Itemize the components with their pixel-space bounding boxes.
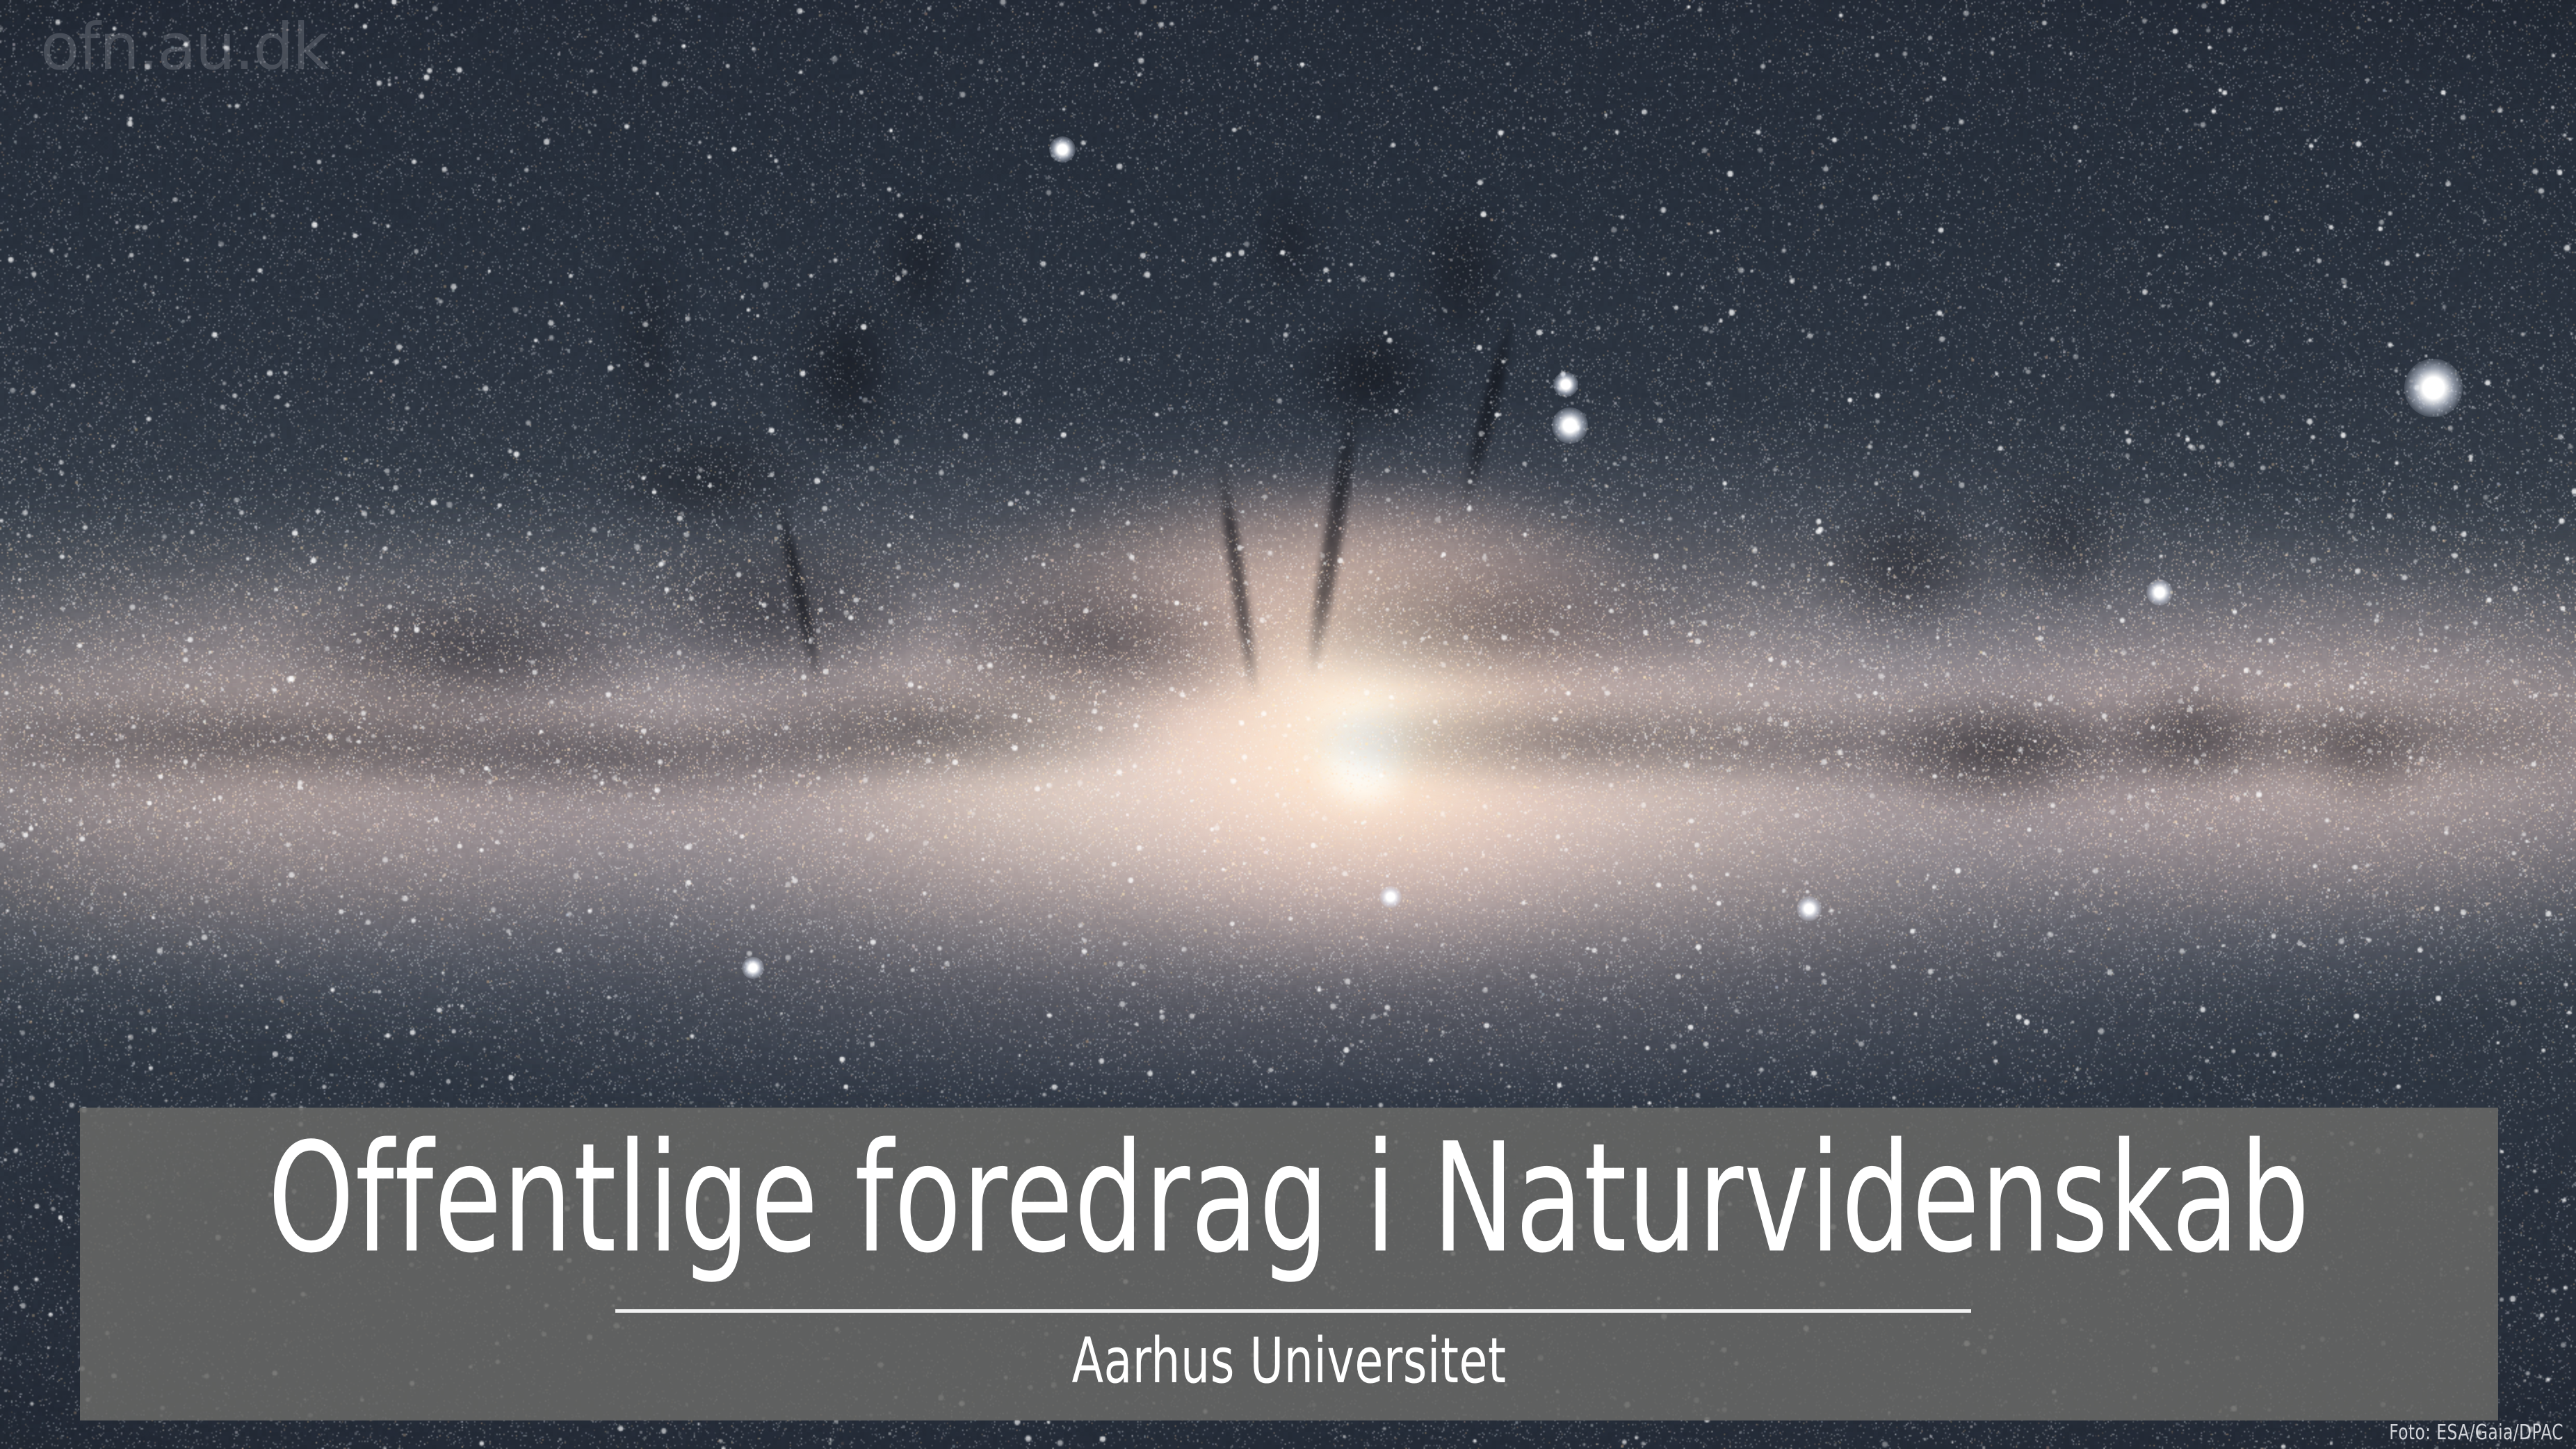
- slide-canvas: ofn.au.dk Offentlige foredrag i Naturvid…: [0, 0, 2576, 1449]
- bright-star: [1797, 896, 1821, 921]
- banner-title: Offentlige foredrag i Naturvidenskab: [92, 1122, 2486, 1275]
- bright-star: [1552, 407, 1587, 443]
- banner-divider: [615, 1309, 1971, 1313]
- bright-star: [742, 957, 764, 979]
- bright-star: [1049, 136, 1076, 163]
- title-banner: Offentlige foredrag i Naturvidenskab Aar…: [80, 1108, 2498, 1420]
- bright-star: [1553, 372, 1578, 396]
- galactic-core-hotspot: [1319, 724, 1407, 811]
- site-watermark: ofn.au.dk: [40, 15, 328, 79]
- bright-star: [2146, 579, 2173, 606]
- photo-credit: Foto: ESA/Gaia/DPAC: [2389, 1421, 2563, 1446]
- bright-star: [2404, 359, 2462, 416]
- banner-subtitle: Aarhus Universitet: [80, 1329, 2498, 1395]
- bright-star: [1379, 886, 1402, 908]
